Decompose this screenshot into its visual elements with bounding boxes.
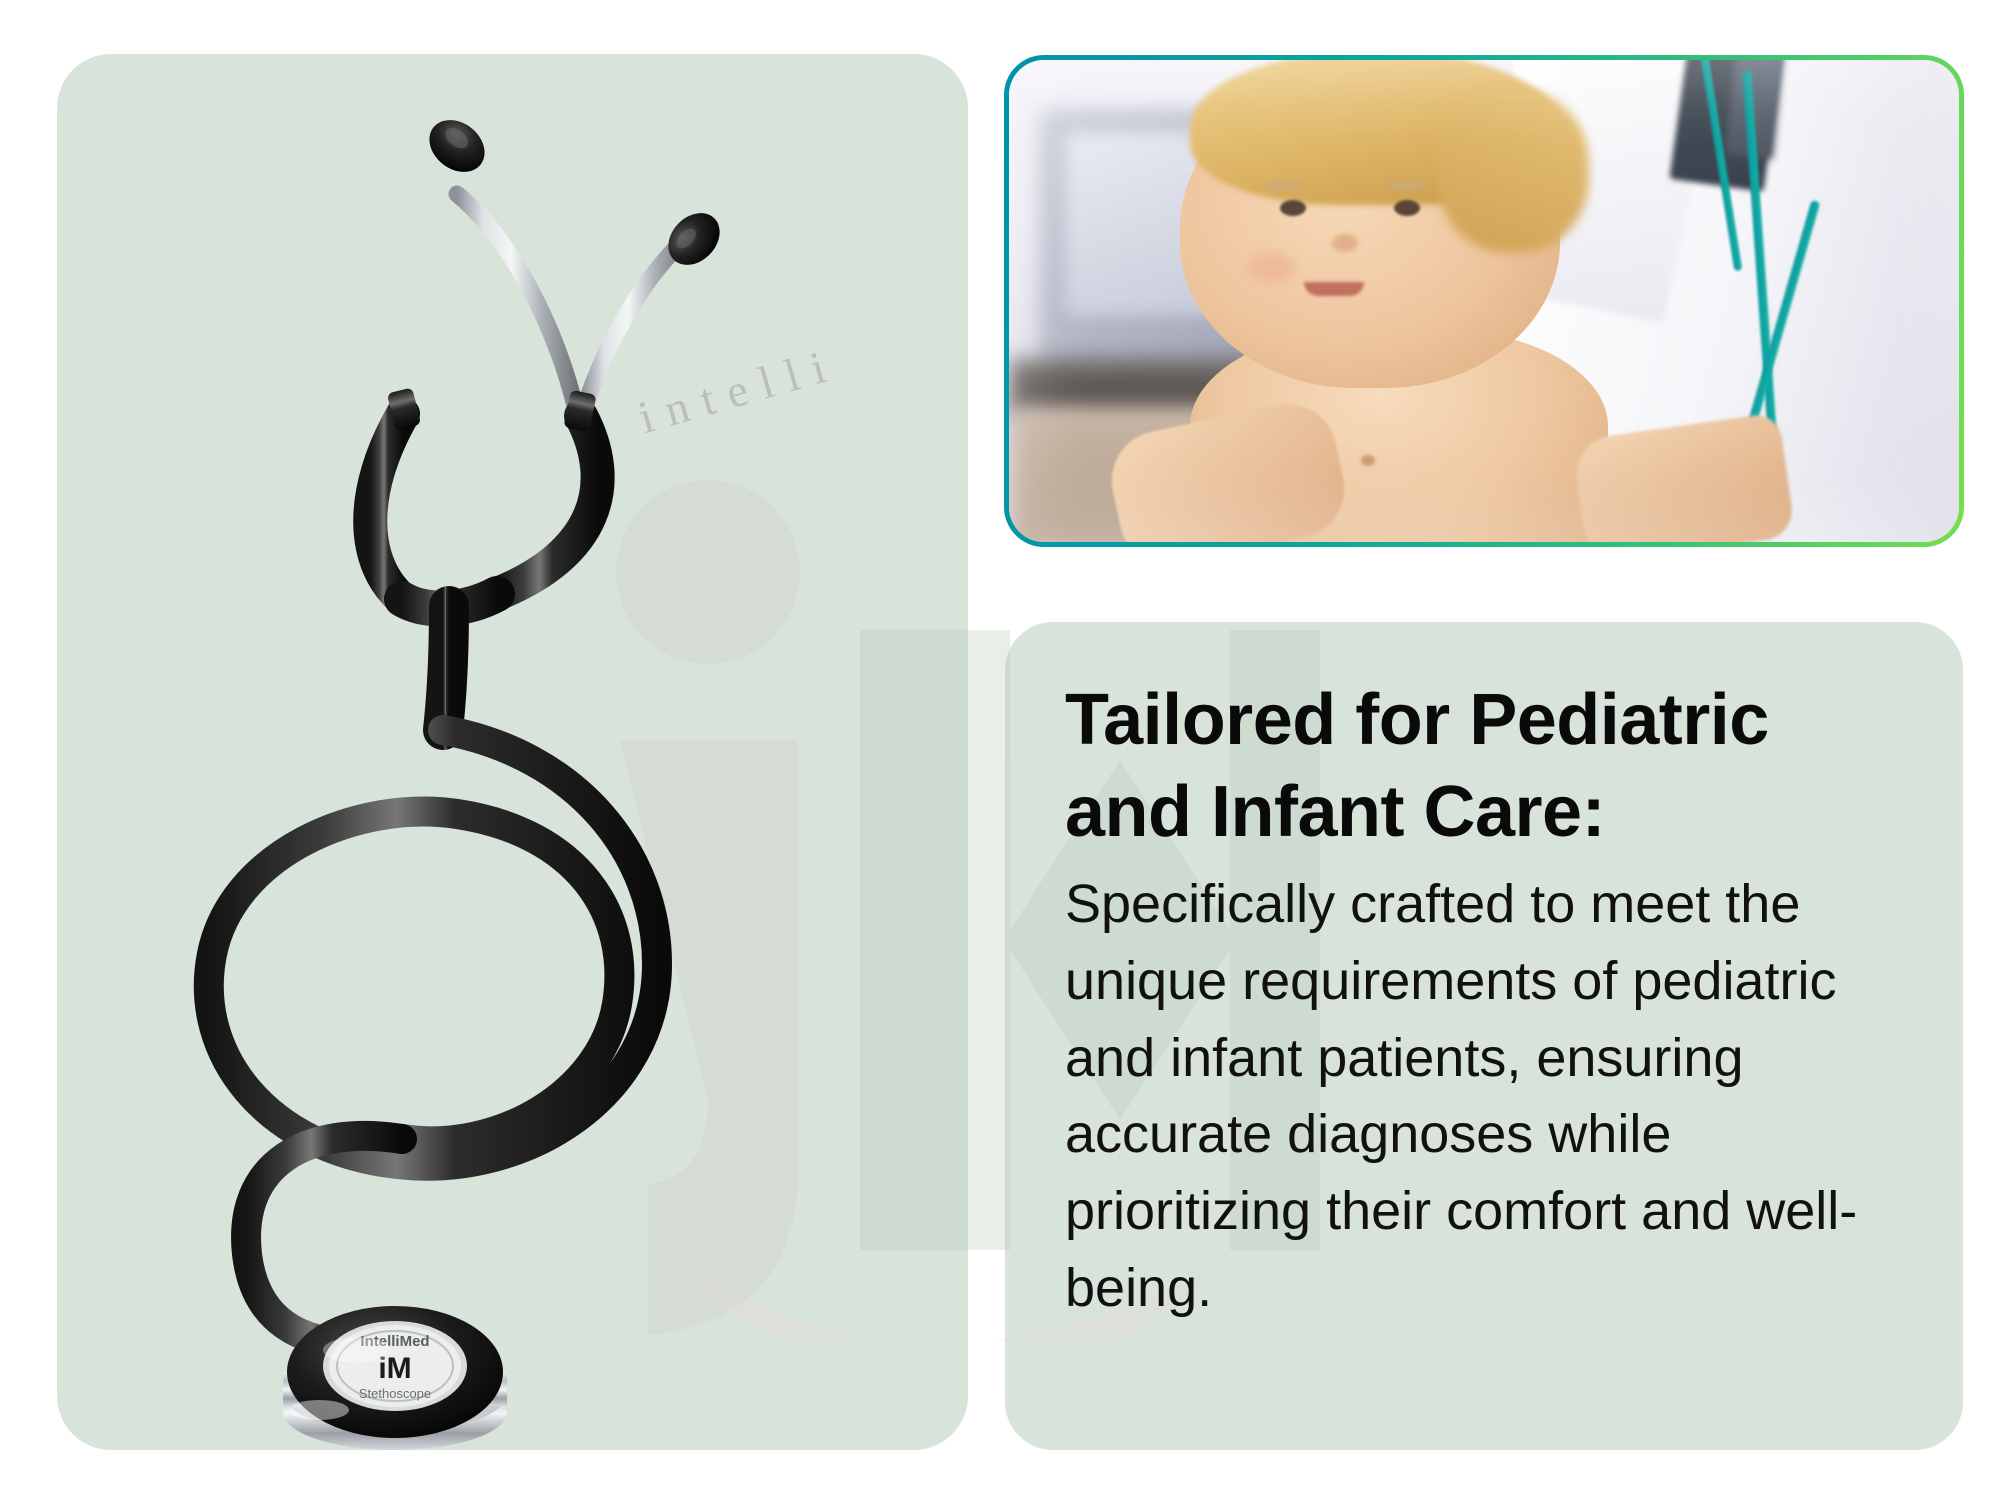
pediatric-photo-card xyxy=(1004,55,1964,547)
product-image-card: intelli xyxy=(57,54,968,1450)
feature-slide: intelli intelli xyxy=(0,0,2000,1500)
feature-headline-line-1: Tailored for Pediatric xyxy=(1065,680,1769,760)
stethoscope-svg: IntelliMed iM Stethoscope xyxy=(57,54,968,1450)
feature-text-block: Tailored for Pediatric and Infant Care: … xyxy=(1005,622,1963,1326)
feature-headline-line-2: and Infant Care: xyxy=(1065,772,1605,852)
photo-vignette xyxy=(1009,60,1959,542)
pediatric-photo xyxy=(1009,60,1959,542)
feature-headline: Tailored for Pediatric and Infant Care: xyxy=(1065,674,1907,858)
stethoscope-illustration: IntelliMed iM Stethoscope xyxy=(57,54,968,1450)
chestpiece-brand-bottom-text: Stethoscope xyxy=(359,1386,431,1401)
feature-text-card: Tailored for Pediatric and Infant Care: … xyxy=(1005,622,1963,1450)
feature-body-text: Specifically crafted to meet the unique … xyxy=(1065,866,1905,1326)
